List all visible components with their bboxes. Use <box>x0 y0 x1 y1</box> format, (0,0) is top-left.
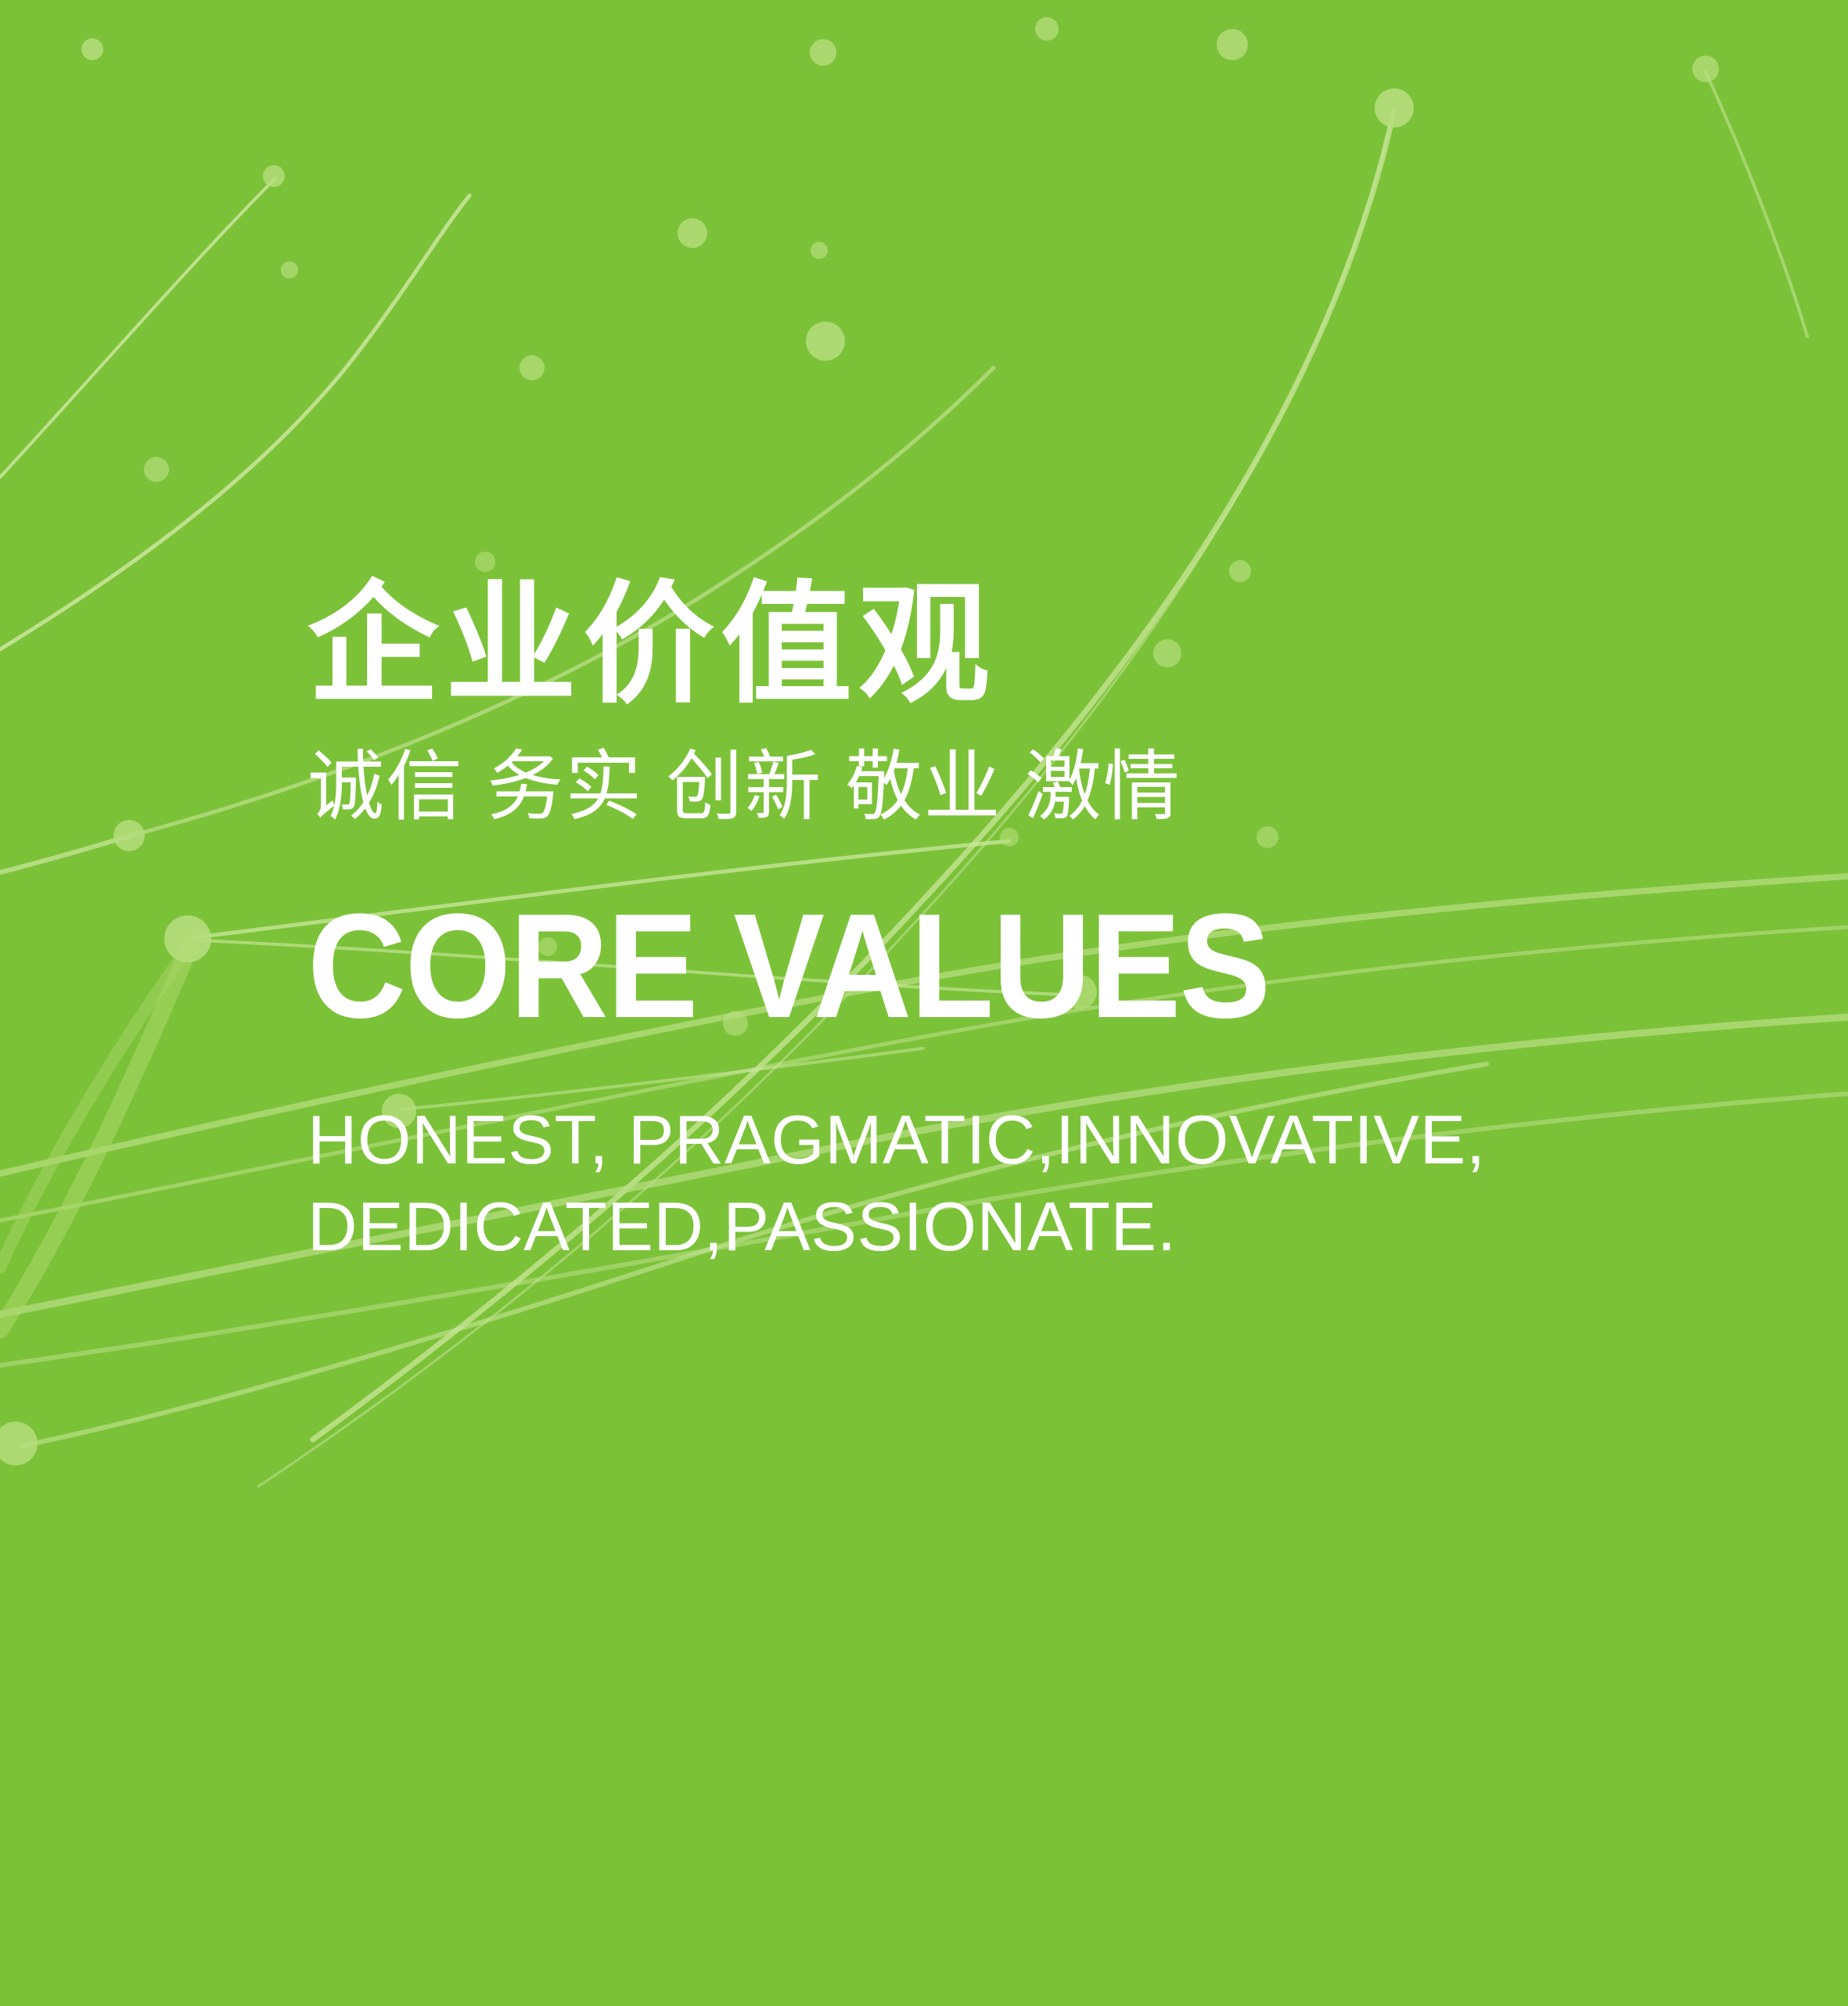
chinese-title: 企业价值观 <box>307 579 1716 710</box>
english-subtitle-line-1: HONEST, PRAGMATIC,INNOVATIVE, <box>307 1097 1716 1184</box>
english-subtitle-line-2: DEDICATED,PASSIONATE. <box>307 1184 1716 1271</box>
english-title: CORE VALUES <box>307 892 1603 1041</box>
poster-text-block: 企业价值观 诚信 务实 创新 敬业 激情 CORE VALUES HONEST,… <box>307 579 1716 1271</box>
core-values-poster: 企业价值观 诚信 务实 创新 敬业 激情 CORE VALUES HONEST,… <box>0 0 1848 2006</box>
chinese-subtitle: 诚信 务实 创新 敬业 激情 <box>307 748 1716 825</box>
